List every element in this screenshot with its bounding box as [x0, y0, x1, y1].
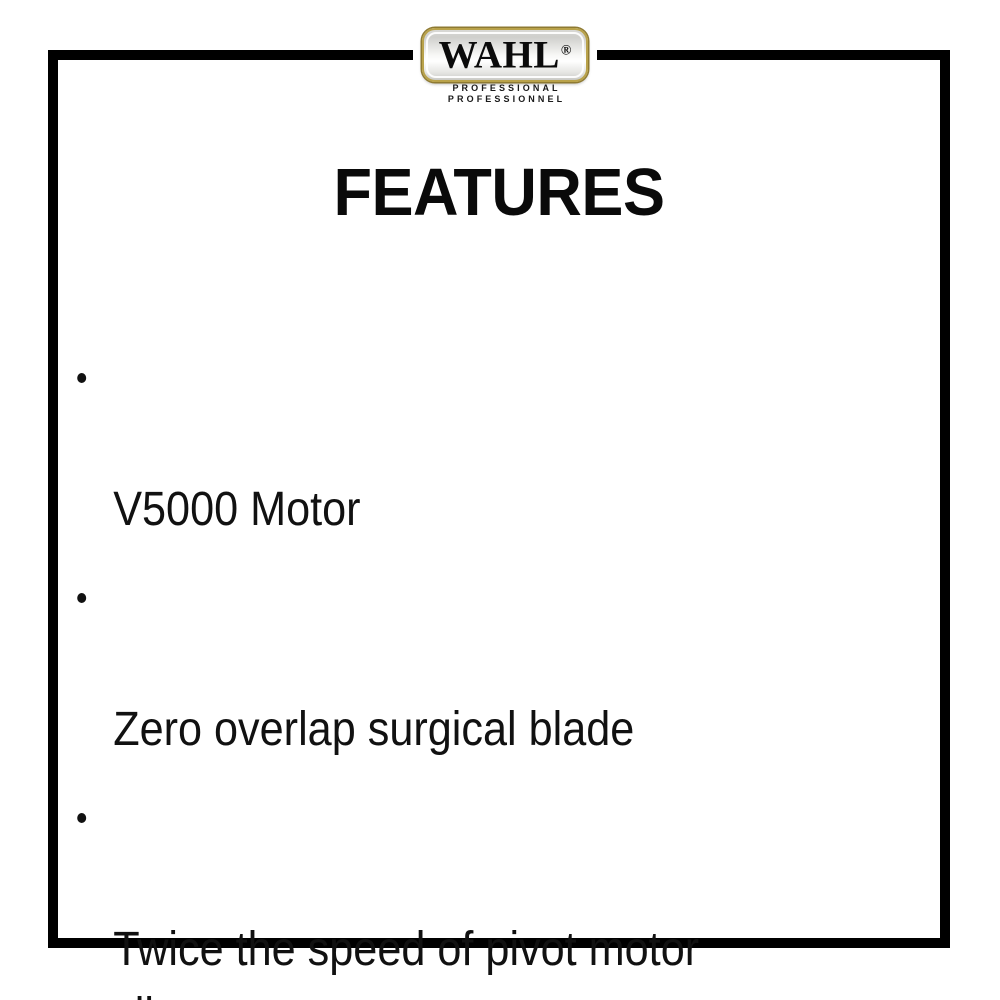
list-item-label: V5000 Motor — [113, 483, 360, 536]
list-item-label: Zero overlap surgical blade — [113, 703, 634, 756]
page-title: FEATURES — [84, 158, 913, 228]
bullet-icon — [77, 593, 86, 603]
wahl-wordmark-text: WAHL — [439, 34, 560, 77]
list-item-label: Twice the speed of pivot motor clippers — [113, 923, 699, 1000]
list-item: Zero overlap surgical blade — [70, 565, 844, 763]
registered-trademark-icon: ® — [561, 44, 571, 59]
feature-slide: WAHL® PROFESSIONAL PROFESSIONNEL FEATURE… — [0, 0, 1000, 1000]
list-item: Twice the speed of pivot motor clippers — [70, 785, 844, 1000]
logo-tagline-english: PROFESSIONAL — [413, 83, 597, 94]
bullet-icon — [77, 373, 86, 383]
features-list: V5000 Motor Zero overlap surgical blade … — [70, 345, 930, 1000]
logo-tagline-french: PROFESSIONNEL — [413, 94, 597, 105]
wahl-logo: WAHL® PROFESSIONAL PROFESSIONNEL — [413, 22, 597, 110]
wahl-logo-badge: WAHL® — [422, 28, 588, 82]
bullet-icon — [77, 813, 86, 823]
wahl-wordmark: WAHL® — [424, 36, 586, 75]
list-item: V5000 Motor — [70, 345, 844, 543]
